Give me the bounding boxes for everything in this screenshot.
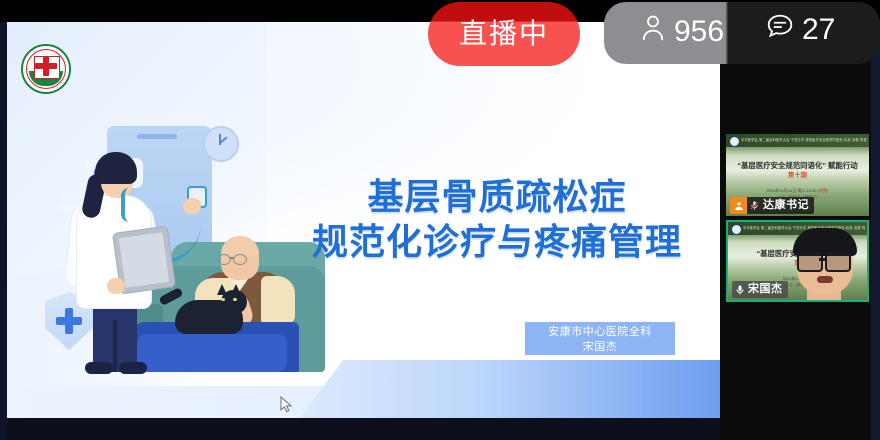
viewer-count-group: 956: [640, 13, 724, 51]
live-stream-viewer: 基层骨质疏松症 规范化诊疗与疼痛管理 安康市中心医院全科 宋国杰 中华医学会 第…: [0, 0, 880, 440]
doctor-shoe-right: [119, 362, 147, 374]
thumb2-participant-name: 宋国杰: [747, 281, 783, 298]
live-badge: 直播中: [428, 2, 580, 66]
speaker-glasses-right: [825, 252, 851, 272]
mic-muted-icon: [747, 200, 762, 211]
participant-video-panel[interactable]: 中华医学会 第二届全科医学大会·干货分享 规范医疗安全规范同语化·标准·流程·同…: [720, 22, 871, 440]
person-icon: [640, 13, 666, 51]
thumb1-org-logo-icon: [729, 136, 740, 147]
glasses-lens-left: [217, 254, 231, 265]
thumb1-date-text: 2024年11月19日 周二 19:30: [767, 188, 817, 193]
thumb1-slide-header-bar: 中华医学会 第二届全科医学大会·干货分享 规范医疗安全规范同语化·标准·流程·同…: [726, 134, 869, 147]
cat-ear-right: [231, 284, 241, 295]
viewer-count: 956: [674, 15, 724, 49]
emblem-cross-horizontal: [35, 63, 57, 69]
illustration-panel-notch: [137, 134, 177, 139]
thumb1-participant-name: 达康书记: [762, 197, 809, 214]
blanket-fold: [137, 334, 287, 372]
shield-cross-horizontal: [56, 317, 82, 325]
thumb1-name-bar: 达康书记: [730, 197, 814, 214]
chat-bubble-icon: [766, 13, 794, 47]
patient-shirt-right: [261, 276, 295, 324]
doctor-leg-split: [113, 320, 117, 372]
patient-glasses-icon: [217, 254, 251, 263]
presenter-organization: 安康市中心医院全科: [525, 325, 675, 340]
speaker-mouth: [817, 276, 833, 283]
presenter-credit-box: 安康市中心医院全科 宋国杰: [525, 322, 675, 355]
stethoscope-tube-upper: [121, 188, 141, 222]
chat-count: 27: [802, 13, 835, 47]
thumb1-slide-subtitle: 第十期: [726, 170, 869, 179]
speaker-glasses-bridge: [819, 258, 827, 261]
cat-eye-right: [233, 298, 237, 301]
doctor-hair: [95, 152, 137, 184]
thumb2-name-bar: 宋国杰: [732, 281, 788, 298]
chat-count-group: 27: [766, 13, 835, 47]
presenter-name: 宋国杰: [525, 340, 675, 355]
patient-bald-top: [221, 236, 259, 256]
window-left-edge: [0, 0, 7, 440]
hospital-emblem-icon: [21, 44, 71, 94]
thumb1-date-highlight: (免费): [818, 188, 829, 193]
speaker-webcam-face: [783, 226, 869, 300]
cat-eye-left: [221, 298, 225, 301]
slide-title: 基层骨质疏松症 规范化诊疗与疼痛管理: [287, 174, 707, 264]
clock-icon: [203, 126, 239, 162]
doctor-shoe-left: [85, 362, 113, 374]
speaker-glasses-left: [797, 252, 823, 272]
stats-badge: 956 27: [604, 2, 880, 64]
doctor-hand-right: [183, 198, 201, 214]
cat-ear-left: [217, 284, 227, 295]
thumb2-org-logo-icon: [731, 224, 742, 235]
mouse-pointer-icon: [280, 396, 293, 413]
slide-title-line-2: 规范化诊疗与疼痛管理: [287, 219, 707, 264]
glasses-lens-right: [233, 254, 247, 265]
clipboard-sheet: [119, 232, 170, 288]
user-avatar-icon: [730, 197, 747, 214]
participant-thumbnail-1[interactable]: 中华医学会 第二届全科医学大会·干货分享 规范医疗安全规范同语化·标准·流程·同…: [726, 134, 869, 216]
mic-icon: [732, 284, 747, 296]
doctor-hand-left: [107, 278, 125, 294]
window-right-edge: [871, 0, 880, 440]
glasses-bridge: [229, 257, 234, 259]
slide-title-line-1: 基层骨质疏松症: [287, 174, 707, 219]
cat-icon: [175, 300, 243, 334]
slide-bottom-blue-ribbon: [300, 360, 720, 418]
participant-thumbnail-2[interactable]: 中华医学会 第二届全科医学大会·干货分享 规范医疗安全规范同语化·标准·流程·同…: [726, 220, 869, 302]
shared-screen-slide[interactable]: 基层骨质疏松症 规范化诊疗与疼痛管理 安康市中心医院全科 宋国杰: [7, 22, 720, 418]
doctor-and-elderly-patient-illustration: [25, 112, 325, 372]
thumb1-header-text: 中华医学会 第二届全科医学大会·干货分享 规范医疗安全规范同语化·标准·流程·同…: [741, 137, 867, 142]
